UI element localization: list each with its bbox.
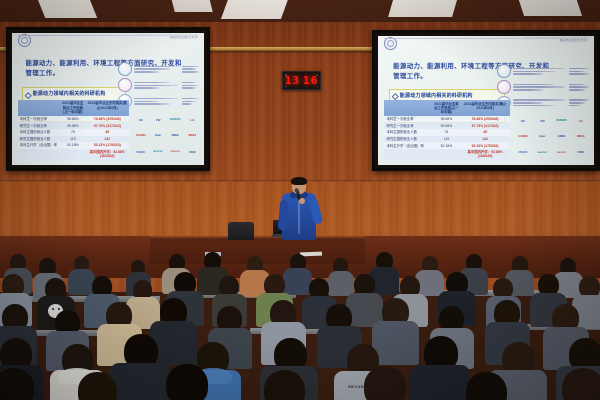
column-header: 2021届毕业生去向落实(截止2021年8月) xyxy=(85,100,129,116)
cell-label: 本科生升学（含出国）率 xyxy=(18,142,61,149)
clock-screw xyxy=(317,86,319,88)
projection-screen-right: 南京航空航天大学 Nanjing University of Aeronauti… xyxy=(372,30,600,171)
company-logo-grid: GE VW SIEMENS LG HUAWEI Haier GREE MIDEA… xyxy=(133,112,200,160)
cell-label: 本科生一次就业率 xyxy=(18,116,61,123)
table-row: 本科生国防就业人数 76 48 xyxy=(384,129,509,136)
slide-content-right: 南京航空航天大学 Nanjing University of Aeronauti… xyxy=(378,36,594,165)
diagram-row xyxy=(118,78,201,92)
slide-diagram xyxy=(497,64,590,110)
cell-value: 98.86% xyxy=(432,116,460,123)
company-logo: LG xyxy=(185,112,201,127)
slide-diagram xyxy=(118,62,201,110)
company-logo: HUAWEI xyxy=(514,129,532,143)
presenter-hand xyxy=(299,198,305,204)
list-item: 能源动力领域内相关的科研机构 xyxy=(26,90,122,100)
company-logo: LG xyxy=(572,113,590,127)
cell-label: 研究生一次就业率 xyxy=(384,122,432,129)
cell-label: 研究生国防就业人数 xyxy=(18,136,61,143)
ceiling-panel xyxy=(169,0,212,12)
table-row: 其中国内升学：52.88% (164/333) xyxy=(384,149,509,160)
company-logo: SIEMENS xyxy=(167,112,183,127)
table-row: 本科生国防就业人数 76 48 xyxy=(18,129,129,136)
bullet-square-icon xyxy=(25,92,31,98)
table-footnote: 其中国内升学：52.88% (164/333) xyxy=(460,149,509,160)
table-footnote: 其中国内升学：52.88% (164/333) xyxy=(85,149,129,160)
company-logo: CNOOC xyxy=(514,145,532,159)
cell-value: 119 xyxy=(432,136,460,143)
diagram-text-block xyxy=(513,99,567,106)
network-icon xyxy=(118,62,132,76)
table-row: 本科生一次就业率 98.86% 78.48% (209/446) xyxy=(18,116,129,123)
cell-label: 本科生一次就业率 xyxy=(384,116,432,123)
tshirt-graphic-text: SEV3N xyxy=(348,384,364,389)
company-logo: MIDEA xyxy=(185,129,201,144)
company-logo: GREE xyxy=(167,129,183,144)
diagram-text-column xyxy=(569,99,589,106)
diagram-row xyxy=(497,64,590,78)
cell-label: 研究生国防就业人数 xyxy=(384,136,432,143)
cell-value: 78.48% (209/446) xyxy=(460,116,509,123)
table-row: 研究生一次就业率 99.58% 97.75% (317/322) xyxy=(18,122,129,129)
column-header: 2021届毕业生去向落实(截止2021年8月) xyxy=(460,100,509,116)
clock-hours: 13 xyxy=(285,74,300,87)
slide-header: 南京航空航天大学 Nanjing University of Aeronauti… xyxy=(12,33,204,48)
diagram-text-column xyxy=(182,98,200,105)
ceiling-panel xyxy=(221,0,291,19)
diagram-row xyxy=(118,94,201,108)
office-chair xyxy=(228,222,254,240)
cell-value: 97.75% (317/322) xyxy=(460,122,509,129)
cell-value: 53.13% (175/333) xyxy=(460,142,509,149)
company-logo: CNOOC xyxy=(133,145,149,160)
bullet-square-icon xyxy=(392,93,398,99)
cell-value: 48 xyxy=(85,129,129,136)
lecture-hall-photo: 南京航空航天大学 Nanjing University of Aeronauti… xyxy=(0,0,600,400)
cell-label: 研究生一次就业率 xyxy=(18,122,61,129)
cell-value: 99.58% xyxy=(60,122,85,129)
diagram-text-column xyxy=(182,82,200,89)
table-header-row: 2021届毕业生就业工作进展(占一年中期) 2021届毕业生去向落实(截止202… xyxy=(384,100,509,116)
employment-statistics-table: 2021届毕业生就业工作进展(占一年中期) 2021届毕业生去向落实(截止202… xyxy=(18,100,129,160)
table-row: 其中国内升学：52.88% (164/333) xyxy=(18,149,129,160)
company-logo: GE xyxy=(514,113,532,127)
network-icon xyxy=(497,64,511,78)
company-logo: HUAWEI xyxy=(133,129,149,144)
column-header xyxy=(384,100,432,116)
cell-value: 97.75% (317/322) xyxy=(85,122,129,129)
badge-icon xyxy=(118,78,132,92)
company-logo: GREE xyxy=(553,129,571,143)
company-logo: CNOOC2 xyxy=(167,145,183,160)
cell-value: 119 xyxy=(60,136,85,143)
presenter xyxy=(279,178,319,240)
clock-screw xyxy=(317,74,319,76)
diagram-row xyxy=(497,80,590,94)
diagram-text-block xyxy=(513,84,567,91)
cell-value: 142 xyxy=(460,136,509,143)
cell-value: 99.58% xyxy=(432,122,460,129)
employment-statistics-table: 2021届毕业生就业工作进展(占一年中期) 2021届毕业生去向落实(截止202… xyxy=(384,100,509,160)
cell-label: 本科生国防就业人数 xyxy=(384,129,432,136)
clock-minutes: 16 xyxy=(303,74,318,87)
company-logo: SIEMENS xyxy=(553,113,571,127)
presenter-hair xyxy=(291,177,307,185)
header-divider xyxy=(18,35,199,36)
company-logo: GE xyxy=(133,112,149,127)
company-logo: CNOOC2 xyxy=(553,145,571,159)
company-logo: VW xyxy=(533,113,551,127)
column-header: 2021届毕业生就业工作进展(占一年中期) xyxy=(432,100,460,116)
cell-value: 52.18% xyxy=(60,142,85,149)
ceiling-panel xyxy=(388,0,460,17)
cell-label: 本科生升学（含出国）率 xyxy=(384,142,432,149)
clock-screw xyxy=(285,86,287,88)
company-logo: VW xyxy=(150,112,166,127)
diagram-text-block xyxy=(134,66,180,73)
company-logo: SINOPEC xyxy=(150,145,166,160)
company-logo: Haier xyxy=(150,129,166,144)
diagram-text-block xyxy=(513,68,567,75)
audience-seating: SEV3N xyxy=(0,252,600,400)
company-logo: CSSC xyxy=(185,145,201,160)
company-logo: SINOPEC xyxy=(533,145,551,159)
cell-value: 78.48% (209/446) xyxy=(85,116,129,123)
company-logo-grid: GE VW SIEMENS LG HUAWEI Haier GREE MIDEA… xyxy=(514,113,590,159)
wall-digital-clock: 1316 xyxy=(282,71,321,90)
table-row: 本科生升学（含出国）率 52.18% 53.13% (175/333) xyxy=(384,142,509,149)
cell-value: 53.13% (175/333) xyxy=(85,142,129,149)
bullet-text: 能源动力领域内相关的科研机构 xyxy=(33,90,106,100)
cell-value: 48 xyxy=(460,129,509,136)
diagram-text-block xyxy=(134,98,180,105)
header-divider xyxy=(384,38,587,39)
slide-header: 南京航空航天大学 Nanjing University of Aeronauti… xyxy=(378,36,594,50)
cell-value: 52.18% xyxy=(432,142,460,149)
badge-icon xyxy=(497,80,511,94)
diagram-row xyxy=(497,96,590,110)
diagram-row xyxy=(118,62,201,76)
clock-screw xyxy=(285,74,287,76)
column-header xyxy=(18,100,61,116)
table-row: 研究生一次就业率 99.58% 97.75% (317/322) xyxy=(384,122,509,129)
table-row: 研究生国防就业人数 119 142 xyxy=(384,136,509,143)
projection-screen-left: 南京航空航天大学 Nanjing University of Aeronauti… xyxy=(6,27,210,171)
cell-label: 本科生国防就业人数 xyxy=(18,129,61,136)
column-header: 2021届毕业生就业工作进展(占一年中期) xyxy=(60,100,85,116)
table-header-row: 2021届毕业生就业工作进展(占一年中期) 2021届毕业生去向落实(截止202… xyxy=(18,100,129,116)
table-row: 本科生一次就业率 98.86% 78.48% (209/446) xyxy=(384,116,509,123)
diagram-text-block xyxy=(134,82,180,89)
ceiling-panel xyxy=(35,0,98,18)
slide-content-left: 南京航空航天大学 Nanjing University of Aeronauti… xyxy=(12,33,204,165)
company-logo: Haier xyxy=(533,129,551,143)
clock-display: 1316 xyxy=(285,74,319,87)
cell-value: 142 xyxy=(85,136,129,143)
ceiling-panel xyxy=(516,0,582,16)
table-row: 本科生升学（含出国）率 52.18% 53.13% (175/333) xyxy=(18,142,129,149)
diagram-text-column xyxy=(569,84,589,91)
table-row: 研究生国防就业人数 119 142 xyxy=(18,136,129,143)
diagram-text-column xyxy=(569,68,589,75)
company-logo: MIDEA xyxy=(572,129,590,143)
diagram-text-column xyxy=(182,66,200,73)
cell-value: 76 xyxy=(432,129,460,136)
company-logo: CSSC xyxy=(572,145,590,159)
cell-value: 98.86% xyxy=(60,116,85,123)
cell-value: 76 xyxy=(60,129,85,136)
